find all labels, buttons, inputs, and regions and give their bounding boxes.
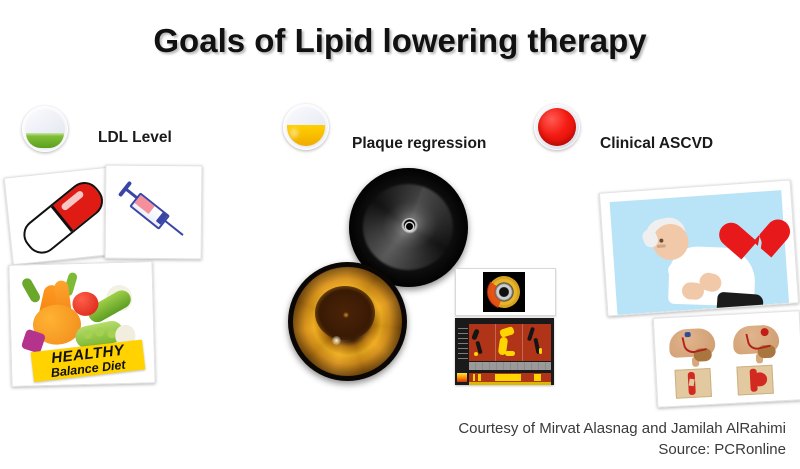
block-lipid — [534, 374, 541, 381]
ivus-catheter — [406, 223, 413, 230]
chemogram-map — [469, 324, 551, 361]
red-white-capsule-pill-photo — [4, 167, 119, 266]
oct-bright-spot — [332, 336, 341, 345]
healthy-balance-diet-photo: HEALTHY Balance Diet — [8, 261, 155, 387]
artery-narrowing — [689, 379, 695, 387]
brain-stroke-illustration — [653, 310, 800, 408]
chemogram-divider — [522, 324, 523, 361]
nirs-inner-ring — [495, 283, 513, 301]
harvey-ball-full-red-icon — [534, 104, 580, 150]
broken-heart-icon — [735, 212, 784, 257]
patient-hand — [681, 282, 704, 300]
chemogram-lipid-patch — [505, 351, 515, 356]
patient-mouth — [657, 244, 666, 248]
harvey-ball-half-yellow-icon — [283, 104, 329, 150]
oct-catheter-spot — [343, 312, 349, 318]
chemogram-dark-streak — [471, 328, 480, 340]
capsule-pill-icon — [17, 175, 110, 260]
brain-clot-marker — [685, 332, 691, 337]
syringe-injection-photo — [105, 165, 203, 260]
chemogram-y-axis — [458, 324, 468, 361]
chemogram-divider — [495, 324, 496, 361]
pill-seam — [51, 205, 73, 231]
chemogram-ruler — [469, 362, 551, 370]
credit-source-line: Source: PCRonline — [658, 441, 786, 458]
nirs-top-card — [455, 268, 556, 316]
block-lipid — [495, 374, 521, 381]
vessel-inset-aneurysm — [736, 365, 773, 396]
nirs-cross-section-thumb — [483, 272, 525, 312]
block-lipid — [473, 374, 475, 381]
artery-bulge — [752, 372, 768, 387]
vessel-inset-stenosis — [674, 368, 711, 399]
block-lipid — [478, 374, 481, 381]
page-title: Goals of Lipid lowering therapy — [0, 22, 800, 60]
nirs-chemogram-panel-image — [455, 268, 554, 385]
illustration-background — [610, 190, 789, 315]
goal-label-clinical-ascvd: Clinical ASCVD — [600, 135, 713, 153]
block-chemogram-bar — [469, 373, 551, 382]
chemogram-footer-bar — [469, 382, 551, 385]
icon-fill-red — [538, 108, 576, 146]
syringe-needle — [161, 218, 183, 236]
oct-amber-cross-section-image — [288, 262, 407, 381]
slide-canvas: Goals of Lipid lowering therapy LDL Leve… — [0, 0, 800, 469]
chemogram-lipid-spot — [539, 348, 542, 354]
chest-pain-patient-illustration — [599, 179, 799, 316]
chemogram-lipid-spot — [474, 352, 478, 356]
nirs-chemogram — [455, 318, 554, 385]
syringe-icon — [117, 180, 190, 244]
brain-hemorrhagic-stroke — [732, 324, 786, 361]
goal-label-ldl-level: LDL Level — [98, 129, 172, 147]
credit-courtesy-line: Courtesy of Mirvat Alasnag and Jamilah A… — [458, 420, 786, 437]
harvey-ball-quarter-green-icon — [22, 106, 68, 152]
chemogram-color-scale — [457, 373, 467, 382]
brain-ischemic-stroke — [668, 327, 722, 364]
goal-label-plaque-regression: Plaque regression — [352, 135, 486, 153]
